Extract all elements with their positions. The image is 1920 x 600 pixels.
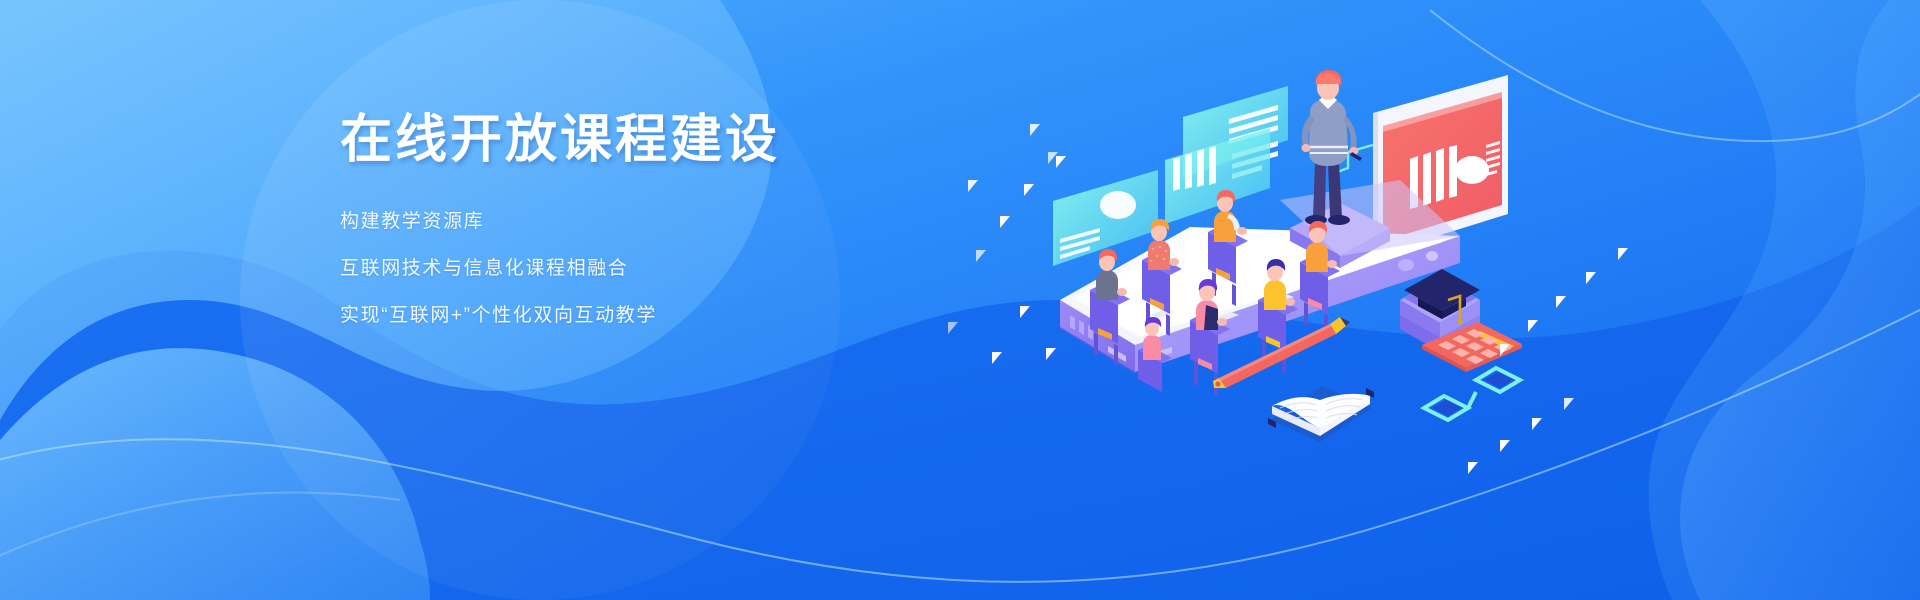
subtitle-line-1: 构建教学资源库: [340, 211, 960, 234]
open-book: [1268, 386, 1374, 442]
page-title: 在线开放课程建设: [340, 112, 960, 169]
eyeglasses: [1424, 368, 1520, 420]
hero-banner: 在线开放课程建设 构建教学资源库 互联网技术与信息化课程相融合 实现“互联网+”…: [0, 0, 1920, 600]
banner-text-block: 在线开放课程建设 构建教学资源库 互联网技术与信息化课程相融合 实现“互联网+”…: [340, 112, 960, 328]
subtitle-line-3: 实现“互联网+”个性化双向互动教学: [340, 305, 960, 328]
subtitle-line-2: 互联网技术与信息化课程相融合: [340, 258, 960, 281]
illustration-online-classroom: [0, 0, 1920, 600]
